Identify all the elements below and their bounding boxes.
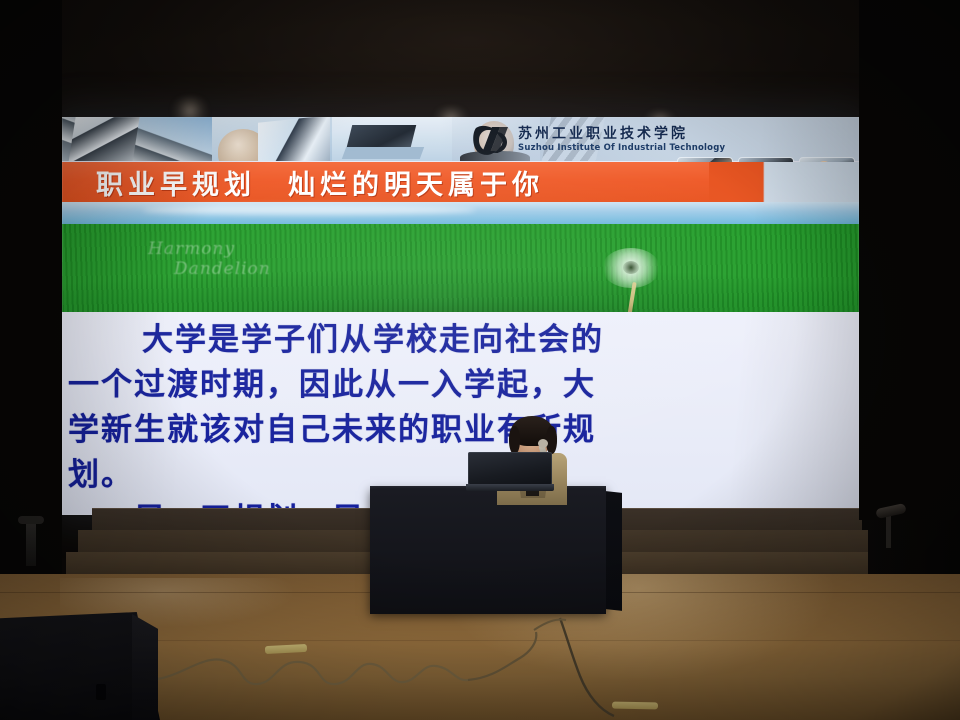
slide-line-2: 一个过渡时期，因此从一入学起，大 (68, 363, 853, 408)
slide-banner: 职业早规划 灿烂的明天属于你 (62, 162, 859, 202)
podium-cable (560, 618, 614, 716)
stage-wing-right-upper (859, 0, 960, 520)
grass-watermark-text: Harmony Dandelion (148, 240, 271, 279)
microphone-head (538, 439, 548, 448)
dandelion-head (602, 248, 660, 288)
university-name-en: Suzhou Institute Of Industrial Technolog… (518, 144, 725, 153)
watermark-line-1: Harmony (148, 240, 271, 260)
slide-banner-text: 职业早规划 灿烂的明天属于你 (96, 163, 544, 202)
laptop-photo (332, 117, 452, 161)
slide-body: 大学是学子们从学校走向社会的 一个过渡时期，因此从一入学起，大 学新生就该对自己… (62, 312, 859, 515)
monitor-speaker-side (132, 614, 158, 720)
laptop-base (466, 484, 554, 491)
left-stage-stand (26, 520, 36, 566)
university-name-cn: 苏州工业职业技术学院 (518, 127, 725, 141)
slide-grass-field: Harmony Dandelion (62, 224, 859, 312)
projection-screen: 苏州工业职业技术学院 Suzhou Institute Of Industria… (62, 117, 859, 515)
slide-sky-band (62, 202, 859, 224)
dandelion-icon (602, 248, 660, 304)
cable-run-up (468, 632, 536, 680)
slide-line-3: 学新生就该对自己未来的职业有所规 (68, 408, 853, 453)
university-emblem-icon (470, 122, 512, 158)
right-stage-stand (876, 506, 910, 548)
presentation-slide: 苏州工业职业技术学院 Suzhou Institute Of Industria… (62, 117, 859, 515)
coiled-cable (150, 660, 468, 685)
presenter-hair-right (546, 426, 557, 454)
slide-header-strip: 苏州工业职业技术学院 Suzhou Institute Of Industria… (62, 117, 859, 161)
banner-right-clip (709, 162, 859, 202)
left-stage-stand-base (18, 516, 44, 524)
yellow-cable-tape (612, 702, 658, 710)
monitor-speaker-port (96, 684, 106, 700)
university-name-group: 苏州工业职业技术学院 Suzhou Institute Of Industria… (518, 127, 725, 153)
presenter-hair-left (509, 426, 520, 454)
businessman-photo (212, 117, 332, 161)
city-buildings-photo (62, 117, 212, 161)
university-logo-block: 苏州工业职业技术学院 Suzhou Institute Of Industria… (470, 119, 725, 161)
laptop-screen (468, 452, 552, 485)
laptop (466, 452, 554, 492)
photo-scene: 苏州工业职业技术学院 Suzhou Institute Of Industria… (0, 0, 960, 720)
watermark-line-2: Dandelion (174, 260, 271, 280)
slide-line-1: 大学是学子们从学校走向社会的 (68, 318, 853, 363)
